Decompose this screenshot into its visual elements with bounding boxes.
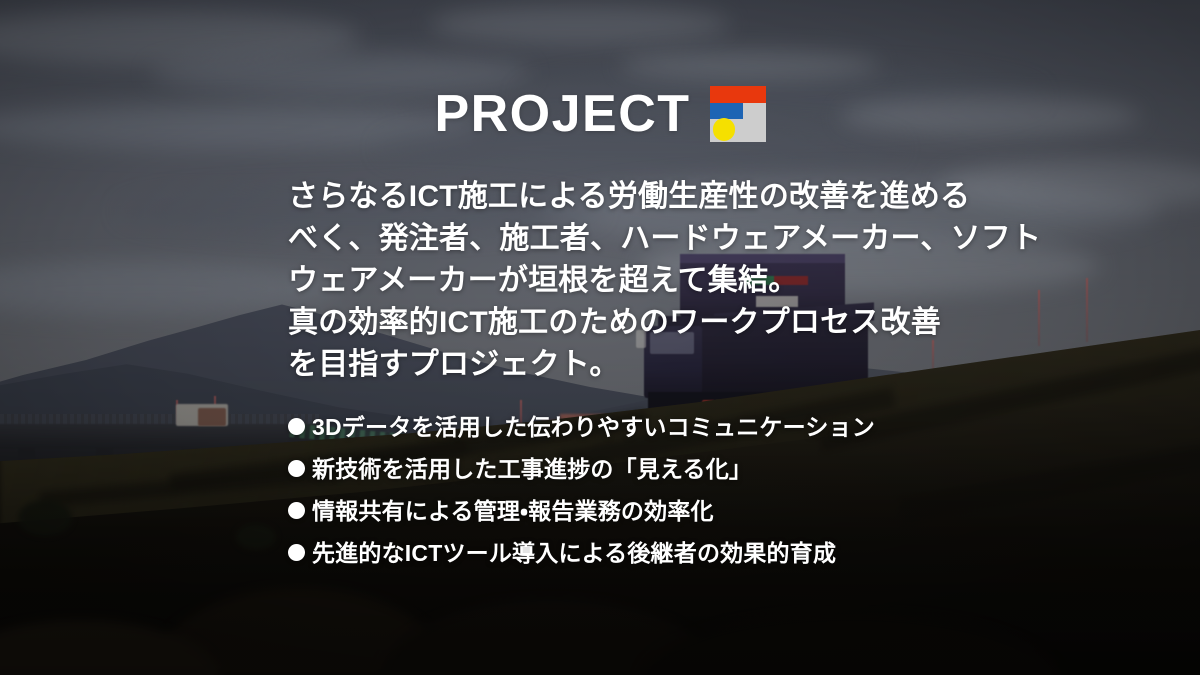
paragraph-line: を目指すプロジェクト。 [288,344,948,386]
list-item-label: 先進的なICTツール導入による後継者の効果的育成 [312,532,836,574]
list-item: 情報共有による管理・報告業務の効率化 [288,490,988,532]
paragraph-line: さらなるICT施工による労働生産性の改善を進める [288,176,948,218]
logomark-red-band [710,86,766,103]
paragraph-line: ウェアメーカーが垣根を超えて集結。 [288,260,948,302]
project-logomark [710,86,766,142]
logomark-yellow-circle [713,118,735,140]
paragraph-line: べく、発注者、施工者、ハードウェアメーカー、ソフト [288,218,948,260]
list-item: 先進的なICTツール導入による後継者の効果的育成 [288,532,988,574]
list-item-label: 情報共有による管理・報告業務の効率化 [312,490,714,532]
feature-bullet-list: 3Dデータを活用した伝わりやすいコミュニケーション 新技術を活用した工事進捗の「… [288,406,988,574]
logo-lockup: PROJECT [0,86,1200,142]
intro-paragraph: さらなるICT施工による労働生産性の改善を進める べく、発注者、施工者、ハードウ… [288,176,948,386]
list-item: 新技術を活用した工事進捗の「見える化」 [288,448,988,490]
presentation-slide: PROJECT さらなるICT施工による労働生産性の改善を進める べく、発注者、… [0,0,1200,675]
paragraph-line: 真の効率的ICT施工のためのワークプロセス改善 [288,302,948,344]
bullet-dot-icon [288,502,305,519]
list-item-label: 新技術を活用した工事進捗の「見える化」 [312,448,752,490]
list-item: 3Dデータを活用した伝わりやすいコミュニケーション [288,406,988,448]
bullet-dot-icon [288,460,305,477]
bullet-dot-icon [288,418,305,435]
slide-content: PROJECT さらなるICT施工による労働生産性の改善を進める べく、発注者、… [0,0,1200,675]
list-item-label: 3Dデータを活用した伝わりやすいコミュニケーション [312,406,875,448]
project-wordmark: PROJECT [434,88,690,140]
bullet-dot-icon [288,544,305,561]
logomark-blue-block [710,103,744,119]
